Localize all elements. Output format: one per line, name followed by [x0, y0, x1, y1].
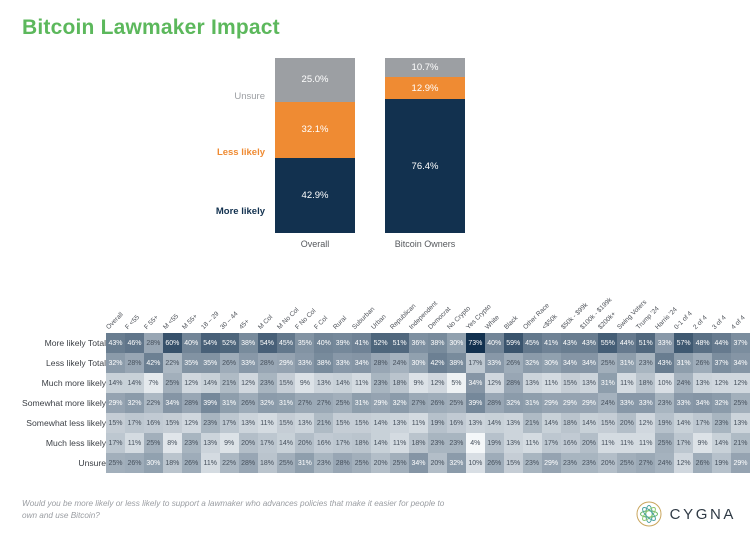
column-header-urban: Urban: [371, 283, 390, 333]
column-header-overall: Overall: [106, 283, 125, 333]
column-header-m-55: M <55: [163, 283, 182, 333]
table-cell: 52%: [220, 333, 239, 353]
bar-segment-less-likely: 12.9%: [385, 77, 465, 100]
table-cell: 11%: [617, 373, 636, 393]
table-cell: 14%: [125, 373, 144, 393]
table-cell: 19%: [485, 433, 504, 453]
axis-label-bitcoin-owners: Bitcoin Owners: [355, 239, 495, 249]
table-cell: 28%: [371, 353, 390, 373]
bar-segment-less-likely: 32.1%: [275, 102, 355, 158]
table-cell: 11%: [201, 453, 220, 473]
table-cell: 33%: [333, 353, 352, 373]
table-cell: 34%: [163, 393, 182, 413]
bar-label-unsure: 10.7%: [412, 62, 439, 73]
table-cell: 9%: [409, 373, 428, 393]
table-cell: 14%: [674, 413, 693, 433]
table-cell: 20%: [580, 433, 599, 453]
table-cell: 26%: [693, 353, 712, 373]
column-header-label: Rural: [332, 315, 348, 331]
table-cell: 23%: [561, 453, 580, 473]
table-cell: 26%: [693, 453, 712, 473]
table-cell: 25%: [731, 393, 750, 413]
table-cell: 34%: [352, 353, 371, 373]
table-cell: 18%: [352, 433, 371, 453]
table-cell: 31%: [617, 353, 636, 373]
table-cell: 29%: [731, 453, 750, 473]
table-cell: 24%: [598, 393, 617, 413]
table-cell: 14%: [277, 433, 296, 453]
table-row: Much more likely14%14%7%25%12%14%21%12%2…: [22, 373, 750, 393]
table-cell: 48%: [693, 333, 712, 353]
column-header-label: Urban: [370, 313, 388, 331]
table-cell: 17%: [106, 433, 125, 453]
table-cell: 13%: [466, 413, 485, 433]
table-cell: 32%: [125, 393, 144, 413]
table-cell: 34%: [693, 393, 712, 413]
table-cell: 13%: [295, 413, 314, 433]
table-cell: 12%: [428, 373, 447, 393]
table-cell: 29%: [277, 353, 296, 373]
table-cell: 44%: [617, 333, 636, 353]
table-cell: 28%: [239, 453, 258, 473]
bar-segment-unsure: 25.0%: [275, 58, 355, 102]
column-header-republican: Republican: [390, 283, 409, 333]
table-cell: 20%: [617, 413, 636, 433]
table-cell: 15%: [106, 413, 125, 433]
table-cell: 43%: [580, 333, 599, 353]
table-cell: 18%: [258, 453, 277, 473]
table-cell: 9%: [693, 433, 712, 453]
table-cell: 17%: [258, 433, 277, 453]
table-cell: 23%: [314, 453, 333, 473]
table-cell: 31%: [674, 353, 693, 373]
table-cell: 25%: [163, 373, 182, 393]
table-cell: 15%: [163, 413, 182, 433]
table-cell: 34%: [731, 353, 750, 373]
column-header-label: 0-1 of 4: [673, 310, 694, 331]
column-header-2-of-4: 2 of 4: [693, 283, 712, 333]
table-cell: 32%: [447, 453, 466, 473]
table-cell: 52%: [371, 333, 390, 353]
table-cell: 12%: [712, 373, 731, 393]
table-cell: 12%: [182, 413, 201, 433]
column-header-f-col: F Col: [314, 283, 333, 333]
table-cell: 19%: [655, 413, 674, 433]
table-row: Somewhat more likely29%32%22%34%28%39%31…: [22, 393, 750, 413]
table-cell: 15%: [504, 453, 523, 473]
table-row: Much less likely17%11%25%8%23%13%9%20%17…: [22, 433, 750, 453]
table-cell: 35%: [182, 353, 201, 373]
table-cell: 13%: [390, 413, 409, 433]
table-cell: 14%: [106, 373, 125, 393]
table-cell: 32%: [504, 393, 523, 413]
table-cell: 11%: [542, 373, 561, 393]
table-cell: 16%: [314, 433, 333, 453]
table-cell: 10%: [655, 373, 674, 393]
column-header-black: Black: [504, 283, 523, 333]
table-cell: 32%: [390, 393, 409, 413]
page-title: Bitcoin Lawmaker Impact: [22, 16, 280, 40]
row-label: More likely Total: [22, 333, 106, 353]
table-cell: 27%: [314, 393, 333, 413]
table-cell: 38%: [314, 353, 333, 373]
table-cell: 51%: [636, 333, 655, 353]
column-header-democrat: Democrat: [428, 283, 447, 333]
column-header-label: 4 of 4: [730, 314, 747, 331]
table-cell: 15%: [352, 413, 371, 433]
column-header-m-55: M 55+: [182, 283, 201, 333]
table-cell: 18%: [636, 373, 655, 393]
table-corner-cell: [22, 283, 106, 333]
table-row: More likely Total43%46%28%60%40%54%52%38…: [22, 333, 750, 353]
table-cell: 14%: [371, 413, 390, 433]
table-cell: 15%: [333, 413, 352, 433]
column-header-30-44: 30 – 44: [220, 283, 239, 333]
table-cell: 28%: [504, 373, 523, 393]
table-cell: 11%: [258, 413, 277, 433]
table-cell: 31%: [352, 393, 371, 413]
table-cell: 19%: [428, 413, 447, 433]
table-cell: 12%: [485, 373, 504, 393]
table-cell: 14%: [542, 413, 561, 433]
table-cell: 24%: [674, 373, 693, 393]
table-cell: 22%: [144, 393, 163, 413]
bar-bitcoin-owners: 10.7% 12.9% 76.4%: [385, 58, 465, 233]
column-header-3-of-4: 3 of 4: [712, 283, 731, 333]
bar-label-less-likely: 32.1%: [302, 124, 329, 135]
table-cell: 11%: [617, 433, 636, 453]
table-cell: 29%: [371, 393, 390, 413]
column-header-45: 45+: [239, 283, 258, 333]
table-cell: 24%: [655, 453, 674, 473]
table-cell: 44%: [712, 333, 731, 353]
table-cell: 13%: [314, 373, 333, 393]
column-header-100k-199k: $100k - $199k: [580, 283, 599, 333]
table-cell: 33%: [617, 393, 636, 413]
column-header-f-no-col: F No Col: [295, 283, 314, 333]
column-header-label: <$50k: [541, 313, 559, 331]
table-cell: 21%: [220, 373, 239, 393]
table-cell: 28%: [258, 353, 277, 373]
table-cell: 34%: [466, 373, 485, 393]
table-cell: 13%: [239, 413, 258, 433]
table-cell: 46%: [125, 333, 144, 353]
table-cell: 35%: [201, 353, 220, 373]
table-cell: 23%: [580, 453, 599, 473]
table-cell: 33%: [655, 333, 674, 353]
brand-logo: CYGNA: [636, 501, 736, 527]
table-cell: 14%: [371, 433, 390, 453]
table-cell: 25%: [598, 353, 617, 373]
table-cell: 21%: [314, 413, 333, 433]
table-cell: 25%: [447, 393, 466, 413]
table-cell: 15%: [277, 413, 296, 433]
table-cell: 9%: [220, 433, 239, 453]
table-cell: 29%: [580, 393, 599, 413]
table-cell: 11%: [523, 433, 542, 453]
column-header-0-1-of-4: 0-1 of 4: [674, 283, 693, 333]
column-header-50k-99k: $50k - $99k: [561, 283, 580, 333]
bar-overall: 25.0% 32.1% 42.9%: [275, 58, 355, 233]
table-cell: 17%: [125, 413, 144, 433]
table-cell: 23%: [655, 393, 674, 413]
column-header-label: 2 of 4: [692, 314, 709, 331]
table-cell: 54%: [201, 333, 220, 353]
table-cell: 27%: [295, 393, 314, 413]
table-cell: 17%: [466, 353, 485, 373]
table-cell: 17%: [220, 413, 239, 433]
table-cell: 33%: [485, 353, 504, 373]
table-cell: 42%: [144, 353, 163, 373]
column-header-f-55: F <55: [125, 283, 144, 333]
table-cell: 37%: [731, 333, 750, 353]
table-cell: 30%: [542, 353, 561, 373]
heatmap-table: OverallF <55F 55+M <55M 55+18 – 2930 – 4…: [22, 283, 750, 473]
table-cell: 29%: [542, 453, 561, 473]
table-cell: 20%: [239, 433, 258, 453]
table-cell: 17%: [674, 433, 693, 453]
table-cell: 23%: [182, 433, 201, 453]
table-cell: 33%: [674, 393, 693, 413]
table-cell: 12%: [674, 453, 693, 473]
table-cell: 31%: [220, 393, 239, 413]
table-cell: 73%: [466, 333, 485, 353]
table-cell: 32%: [712, 393, 731, 413]
table-cell: 14%: [712, 433, 731, 453]
footnote: Would you be more likely or less likely …: [22, 498, 452, 522]
column-header-rural: Rural: [333, 283, 352, 333]
table-cell: 18%: [409, 433, 428, 453]
table-cell: 25%: [106, 453, 125, 473]
table-row: Less likely Total32%28%42%22%35%35%26%33…: [22, 353, 750, 373]
table-cell: 40%: [182, 333, 201, 353]
table-cell: 12%: [636, 413, 655, 433]
table-cell: 15%: [598, 413, 617, 433]
column-header-label: $200k+: [597, 311, 617, 331]
table-cell: 22%: [220, 453, 239, 473]
table-cell: 34%: [580, 353, 599, 373]
table-cell: 38%: [428, 333, 447, 353]
table-cell: 42%: [428, 353, 447, 373]
table-cell: 13%: [731, 413, 750, 433]
table-cell: 14%: [580, 413, 599, 433]
bar-label-less-likely: 12.9%: [412, 83, 439, 94]
table-cell: 25%: [144, 433, 163, 453]
bar-label-more-likely: 42.9%: [302, 190, 329, 201]
row-label: Much more likely: [22, 373, 106, 393]
bar-label-unsure: 25.0%: [302, 74, 329, 85]
table-cell: 23%: [201, 413, 220, 433]
table-cell: 28%: [333, 453, 352, 473]
column-header-other-race: Other Race: [523, 283, 542, 333]
table-cell: 26%: [239, 393, 258, 413]
table-cell: 20%: [295, 433, 314, 453]
table-cell: 17%: [542, 433, 561, 453]
column-header-label: F <55: [124, 314, 141, 331]
table-cell: 26%: [220, 353, 239, 373]
table-cell: 26%: [182, 453, 201, 473]
table-cell: 20%: [598, 453, 617, 473]
table-cell: 13%: [504, 413, 523, 433]
table-cell: 15%: [561, 373, 580, 393]
column-header-label: M Col: [257, 314, 274, 331]
table-cell: 25%: [390, 453, 409, 473]
bar-segment-unsure: 10.7%: [385, 58, 465, 77]
table-cell: 23%: [636, 353, 655, 373]
table-cell: 27%: [409, 393, 428, 413]
stacked-bar-chart: Unsure Less likely More likely 25.0% 32.…: [190, 58, 520, 263]
table-cell: 26%: [125, 453, 144, 473]
table-cell: 32%: [106, 353, 125, 373]
row-label: Somewhat more likely: [22, 393, 106, 413]
table-cell: 26%: [485, 453, 504, 473]
bar-segment-more-likely: 76.4%: [385, 99, 465, 233]
table-cell: 19%: [712, 453, 731, 473]
column-header-label: M 55+: [181, 313, 199, 331]
row-label: Somewhat less likely: [22, 413, 106, 433]
bar-segment-more-likely: 42.9%: [275, 158, 355, 233]
column-header-200k: $200k+: [598, 283, 617, 333]
legend-item-less-likely: Less likely: [217, 147, 265, 158]
table-cell: 34%: [409, 453, 428, 473]
column-header-f-55: F 55+: [144, 283, 163, 333]
column-header-trump-24: Trump '24: [636, 283, 655, 333]
table-cell: 7%: [144, 373, 163, 393]
table-cell: 18%: [390, 373, 409, 393]
table-cell: 40%: [485, 333, 504, 353]
table-cell: 31%: [523, 393, 542, 413]
table-cell: 14%: [201, 373, 220, 393]
table-cell: 11%: [352, 373, 371, 393]
table-cell: 23%: [371, 373, 390, 393]
table-cell: 60%: [163, 333, 182, 353]
table-cell: 17%: [333, 433, 352, 453]
table-cell: 43%: [655, 353, 674, 373]
table-cell: 45%: [277, 333, 296, 353]
column-header-label: 30 – 44: [219, 310, 240, 331]
column-header-label: White: [484, 314, 501, 331]
table-cell: 11%: [125, 433, 144, 453]
table-cell: 26%: [504, 353, 523, 373]
column-header-yes-crypto: Yes Crypto: [466, 283, 485, 333]
table-cell: 14%: [333, 373, 352, 393]
table-cell: 24%: [390, 353, 409, 373]
table-cell: 29%: [106, 393, 125, 413]
table-cell: 11%: [390, 433, 409, 453]
table-cell: 41%: [352, 333, 371, 353]
table-cell: 30%: [144, 453, 163, 473]
table-cell: 18%: [561, 413, 580, 433]
table-cell: 25%: [655, 433, 674, 453]
table-cell: 20%: [371, 453, 390, 473]
table-cell: 25%: [617, 453, 636, 473]
column-header-18-29: 18 – 29: [201, 283, 220, 333]
column-header-label: Black: [503, 315, 519, 331]
table-cell: 32%: [258, 393, 277, 413]
column-header-label: F Col: [313, 315, 329, 331]
table-cell: 9%: [295, 373, 314, 393]
brand-name: CYGNA: [670, 506, 736, 523]
table-cell: 18%: [163, 453, 182, 473]
table-cell: 34%: [561, 353, 580, 373]
table-cell: 12%: [731, 373, 750, 393]
table-cell: 33%: [636, 393, 655, 413]
column-header-m-no-col: M No Col: [277, 283, 296, 333]
table-header-row: OverallF <55F 55+M <55M 55+18 – 2930 – 4…: [22, 283, 750, 333]
column-header-white: White: [485, 283, 504, 333]
table-cell: 28%: [182, 393, 201, 413]
table-cell: 16%: [447, 413, 466, 433]
column-header-suburban: Suburban: [352, 283, 371, 333]
table-cell: 4%: [466, 433, 485, 453]
cygna-mark-icon: [636, 501, 662, 527]
table-cell: 25%: [277, 453, 296, 473]
table-cell: 16%: [561, 433, 580, 453]
table-cell: 38%: [239, 333, 258, 353]
table-cell: 59%: [504, 333, 523, 353]
table-cell: 32%: [523, 353, 542, 373]
column-header-harris-24: Harris '24: [655, 283, 674, 333]
table-cell: 5%: [447, 373, 466, 393]
legend-item-unsure: Unsure: [234, 91, 265, 102]
table-cell: 39%: [333, 333, 352, 353]
table-cell: 43%: [106, 333, 125, 353]
table-cell: 13%: [504, 433, 523, 453]
bar-label-more-likely: 76.4%: [412, 161, 439, 172]
table-cell: 23%: [428, 433, 447, 453]
table-cell: 25%: [333, 393, 352, 413]
table-cell: 23%: [712, 413, 731, 433]
column-header-label: Overall: [105, 311, 125, 331]
column-header-label: F 55+: [143, 314, 160, 331]
table-cell: 55%: [598, 333, 617, 353]
table-cell: 39%: [466, 393, 485, 413]
table-cell: 13%: [523, 373, 542, 393]
table-cell: 38%: [447, 353, 466, 373]
table-cell: 30%: [447, 333, 466, 353]
column-header-swing-voters: Swing Voters: [617, 283, 636, 333]
table-cell: 13%: [693, 373, 712, 393]
table-cell: 54%: [258, 333, 277, 353]
table-cell: 21%: [731, 433, 750, 453]
table-cell: 39%: [201, 393, 220, 413]
table-cell: 15%: [277, 373, 296, 393]
table-cell: 28%: [485, 393, 504, 413]
table-cell: 25%: [352, 453, 371, 473]
row-label: Less likely Total: [22, 353, 106, 373]
table-cell: 51%: [390, 333, 409, 353]
table-cell: 22%: [163, 353, 182, 373]
table-cell: 28%: [125, 353, 144, 373]
table-cell: 23%: [523, 453, 542, 473]
row-label: Unsure: [22, 453, 106, 473]
table-cell: 12%: [182, 373, 201, 393]
table-cell: 23%: [447, 433, 466, 453]
table-cell: 28%: [144, 333, 163, 353]
table-cell: 10%: [466, 453, 485, 473]
column-header-label: M <55: [162, 313, 180, 331]
table-row: Unsure25%26%30%18%26%11%22%28%18%25%31%2…: [22, 453, 750, 473]
column-header-label: 3 of 4: [711, 314, 728, 331]
table-cell: 45%: [523, 333, 542, 353]
table-row: Somewhat less likely15%17%16%15%12%23%17…: [22, 413, 750, 433]
table-cell: 33%: [295, 353, 314, 373]
table-cell: 27%: [636, 453, 655, 473]
column-header-independent: Independent: [409, 283, 428, 333]
column-header-50k: <$50k: [542, 283, 561, 333]
table-cell: 37%: [712, 353, 731, 373]
table-cell: 8%: [163, 433, 182, 453]
